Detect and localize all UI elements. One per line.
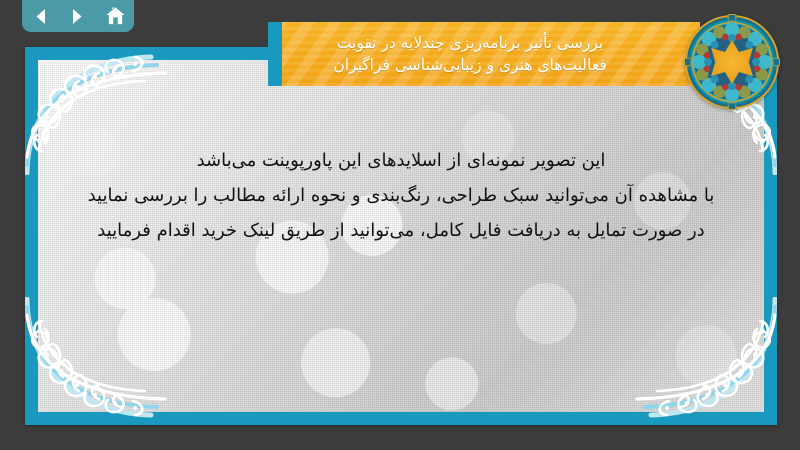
navigation-bar: [22, 0, 134, 32]
home-button[interactable]: [101, 3, 129, 29]
persian-mandala-medallion-icon: [684, 14, 780, 110]
slide-canvas: این تصویر نمونه‌ای از اسلایدهای این پاور…: [25, 47, 777, 425]
body-line-3: در صورت تمایل به دریافت فایل کامل، می‌تو…: [62, 213, 740, 248]
previous-slide-button[interactable]: [27, 3, 55, 29]
triangle-left-icon: [31, 7, 50, 26]
body-line-2: با مشاهده آن می‌توانید سبک طراحی، رنگ‌بن…: [62, 178, 740, 213]
banner-accent-tab: [268, 22, 282, 86]
slide-body-text: این تصویر نمونه‌ای از اسلایدهای این پاور…: [38, 143, 764, 248]
next-slide-button[interactable]: [64, 3, 92, 29]
banner-body: بررسی تأثیر برنامه‌ریزی چندلایه در تقویت…: [282, 22, 700, 86]
title-line-2: فعالیت‌های هنری و زیبایی‌شناسی فراگیران: [333, 54, 606, 76]
body-line-1: این تصویر نمونه‌ای از اسلایدهای این پاور…: [62, 143, 740, 178]
slide-viewer: این تصویر نمونه‌ای از اسلایدهای این پاور…: [0, 0, 800, 450]
title-line-1: بررسی تأثیر برنامه‌ریزی چندلایه در تقویت: [337, 32, 603, 54]
home-icon: [105, 6, 126, 26]
slide-title-banner: بررسی تأثیر برنامه‌ریزی چندلایه در تقویت…: [268, 22, 700, 86]
triangle-right-icon: [68, 7, 87, 26]
